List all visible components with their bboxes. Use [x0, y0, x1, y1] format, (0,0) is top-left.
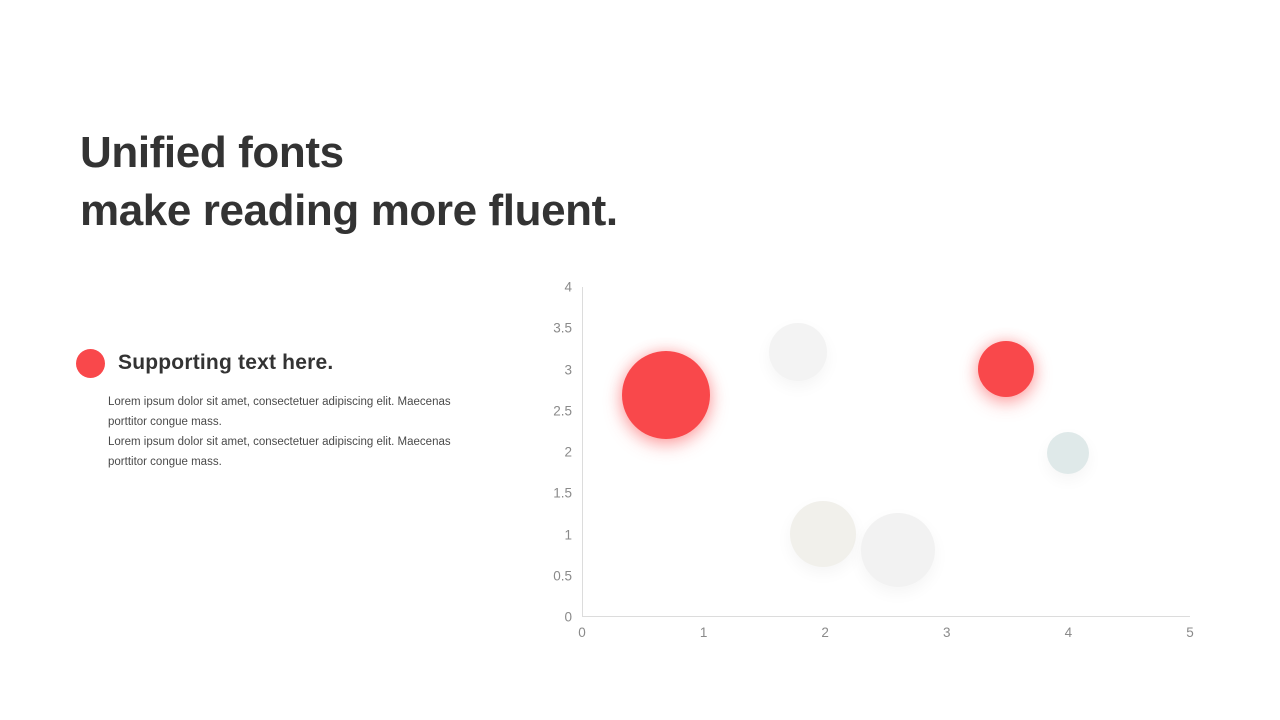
chart-bubble: [790, 501, 856, 567]
bubble-chart: 00.511.522.533.54012345: [520, 270, 1220, 660]
chart-bubble: [1047, 432, 1089, 474]
chart-bubble: [622, 351, 710, 439]
y-axis-tick-label: 2: [564, 445, 572, 460]
supporting-text-paragraph-2: Lorem ipsum dolor sit amet, consectetuer…: [108, 432, 480, 472]
supporting-text-block: Supporting text here. Lorem ipsum dolor …: [76, 346, 496, 472]
page-title-line-2: make reading more fluent.: [80, 182, 780, 240]
y-axis-tick-label: 1.5: [553, 486, 572, 501]
x-axis-tick-label: 3: [943, 625, 951, 640]
y-axis-tick-label: 0.5: [553, 568, 572, 583]
bullet-dot-icon: [76, 349, 105, 378]
y-axis-tick-label: 0: [564, 610, 572, 625]
y-axis-tick-label: 1: [564, 527, 572, 542]
page-title-line-1: Unified fonts: [80, 124, 780, 182]
x-axis-tick-label: 5: [1186, 625, 1194, 640]
x-axis-tick-label: 2: [821, 625, 829, 640]
x-axis-tick-label: 0: [578, 625, 586, 640]
chart-plot-area: 00.511.522.533.54012345: [582, 287, 1190, 617]
y-axis-tick-label: 3: [564, 362, 572, 377]
y-axis-tick-label: 4: [564, 280, 572, 295]
x-axis-tick-label: 1: [700, 625, 708, 640]
chart-bubble: [769, 323, 827, 381]
chart-bubble: [861, 513, 935, 587]
x-axis-tick-label: 4: [1065, 625, 1073, 640]
y-axis-line: [582, 287, 583, 617]
supporting-text-heading-row: Supporting text here.: [76, 346, 496, 380]
y-axis-tick-label: 3.5: [553, 321, 572, 336]
y-axis-tick-label: 2.5: [553, 403, 572, 418]
slide-canvas: Unified fonts make reading more fluent. …: [0, 0, 1280, 720]
supporting-text-paragraph-1: Lorem ipsum dolor sit amet, consectetuer…: [108, 392, 480, 432]
x-axis-line: [582, 616, 1190, 617]
page-title: Unified fonts make reading more fluent.: [80, 124, 780, 240]
chart-bubble: [978, 341, 1034, 397]
supporting-text-body: Lorem ipsum dolor sit amet, consectetuer…: [108, 392, 480, 472]
supporting-text-title: Supporting text here.: [118, 351, 333, 375]
